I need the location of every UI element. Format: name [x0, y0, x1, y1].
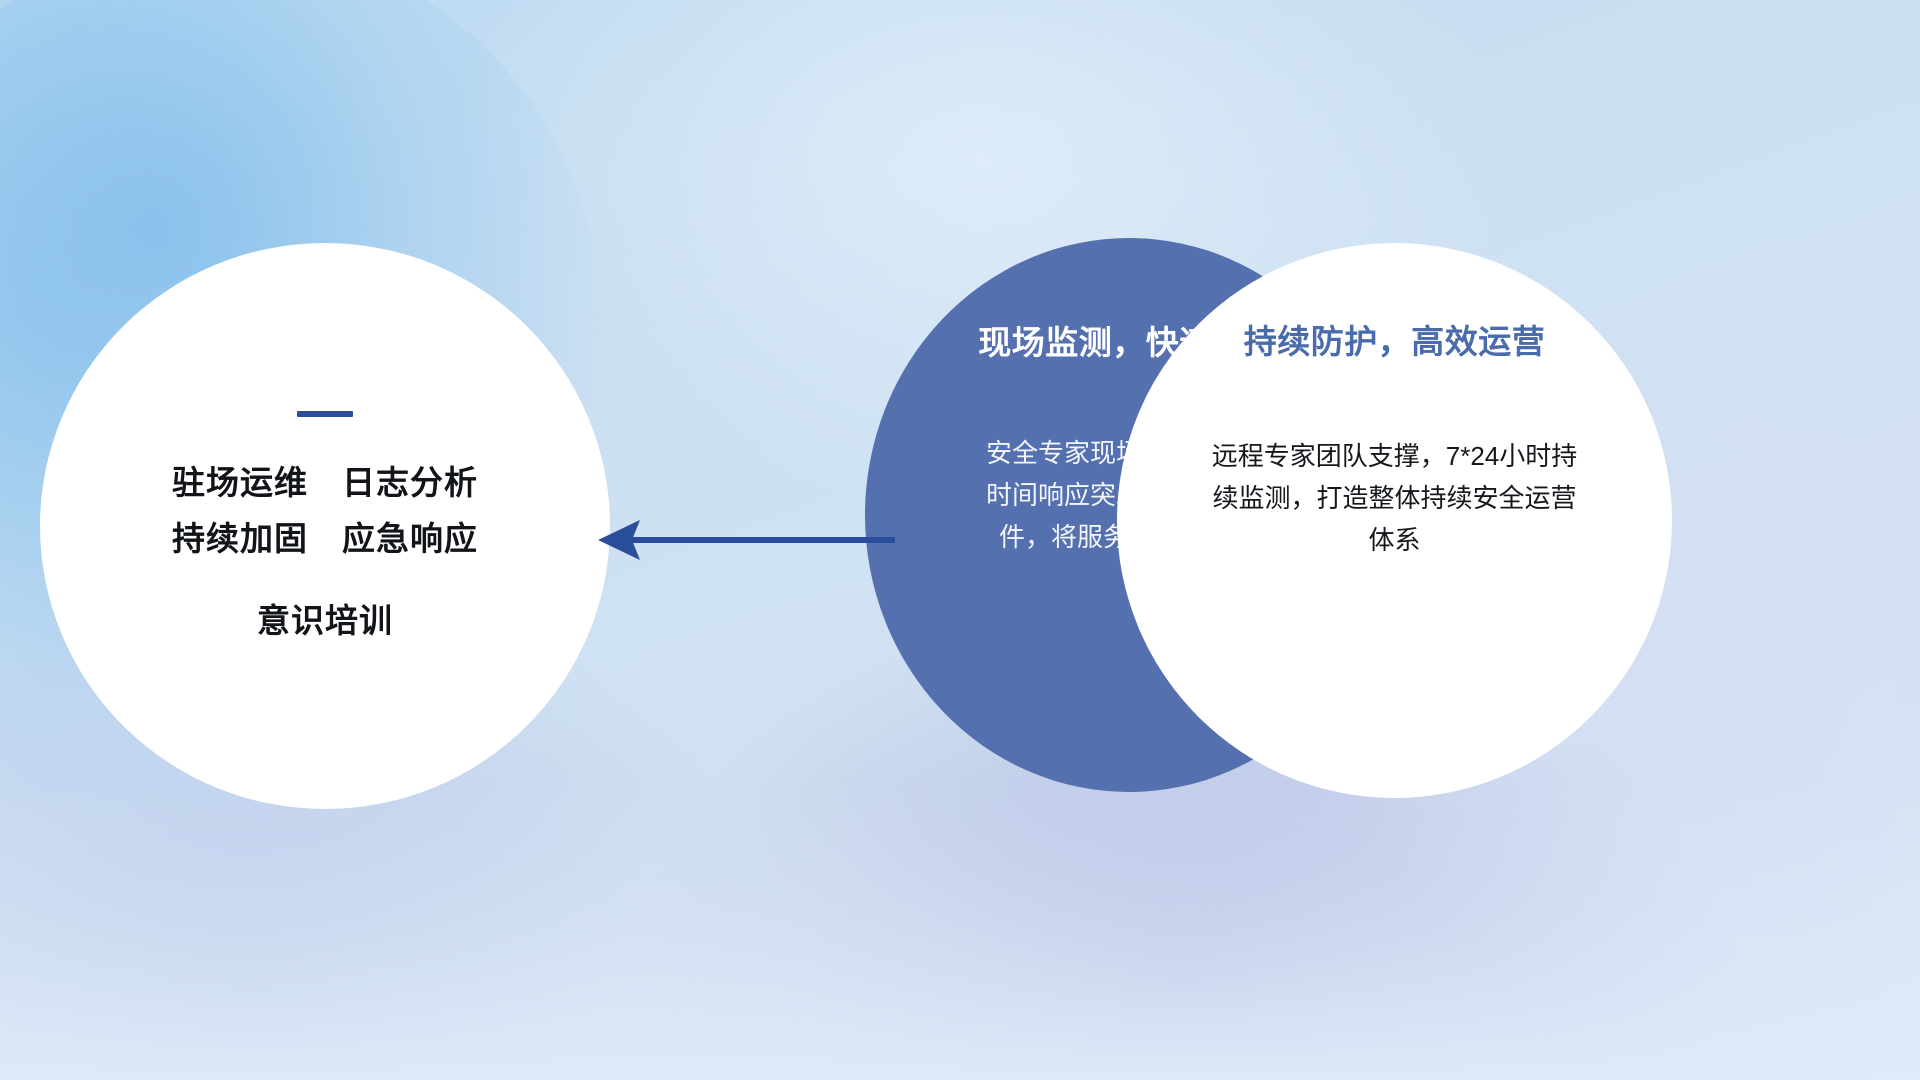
keyword-item[interactable]: 意识培训: [257, 601, 393, 641]
continuous-protection-body: 远程专家团队支撑，7*24小时持续监测，打造整体持续安全运营体系: [1209, 435, 1581, 561]
keyword-row: 持续加固 应急响应: [172, 519, 478, 559]
divider-dash-icon: [297, 411, 353, 417]
service-keyword-grid: 驻场运维 日志分析 持续加固 应急响应 意识培训: [172, 463, 478, 642]
keyword-item[interactable]: 持续加固: [172, 519, 308, 559]
background-glow-bottom: [0, 780, 1920, 1080]
keyword-item[interactable]: 应急响应: [342, 519, 478, 559]
keyword-item[interactable]: 日志分析: [342, 463, 478, 503]
keyword-row: 驻场运维 日志分析: [172, 463, 478, 503]
continuous-protection-circle[interactable]: 持续防护，高效运营 远程专家团队支撑，7*24小时持续监测，打造整体持续安全运营…: [1117, 243, 1672, 798]
keyword-row: 意识培训: [257, 601, 393, 641]
keyword-item[interactable]: 驻场运维: [172, 463, 308, 503]
continuous-protection-heading: 持续防护，高效运营: [1244, 315, 1546, 363]
service-capabilities-circle[interactable]: 驻场运维 日志分析 持续加固 应急响应 意识培训: [40, 243, 610, 809]
